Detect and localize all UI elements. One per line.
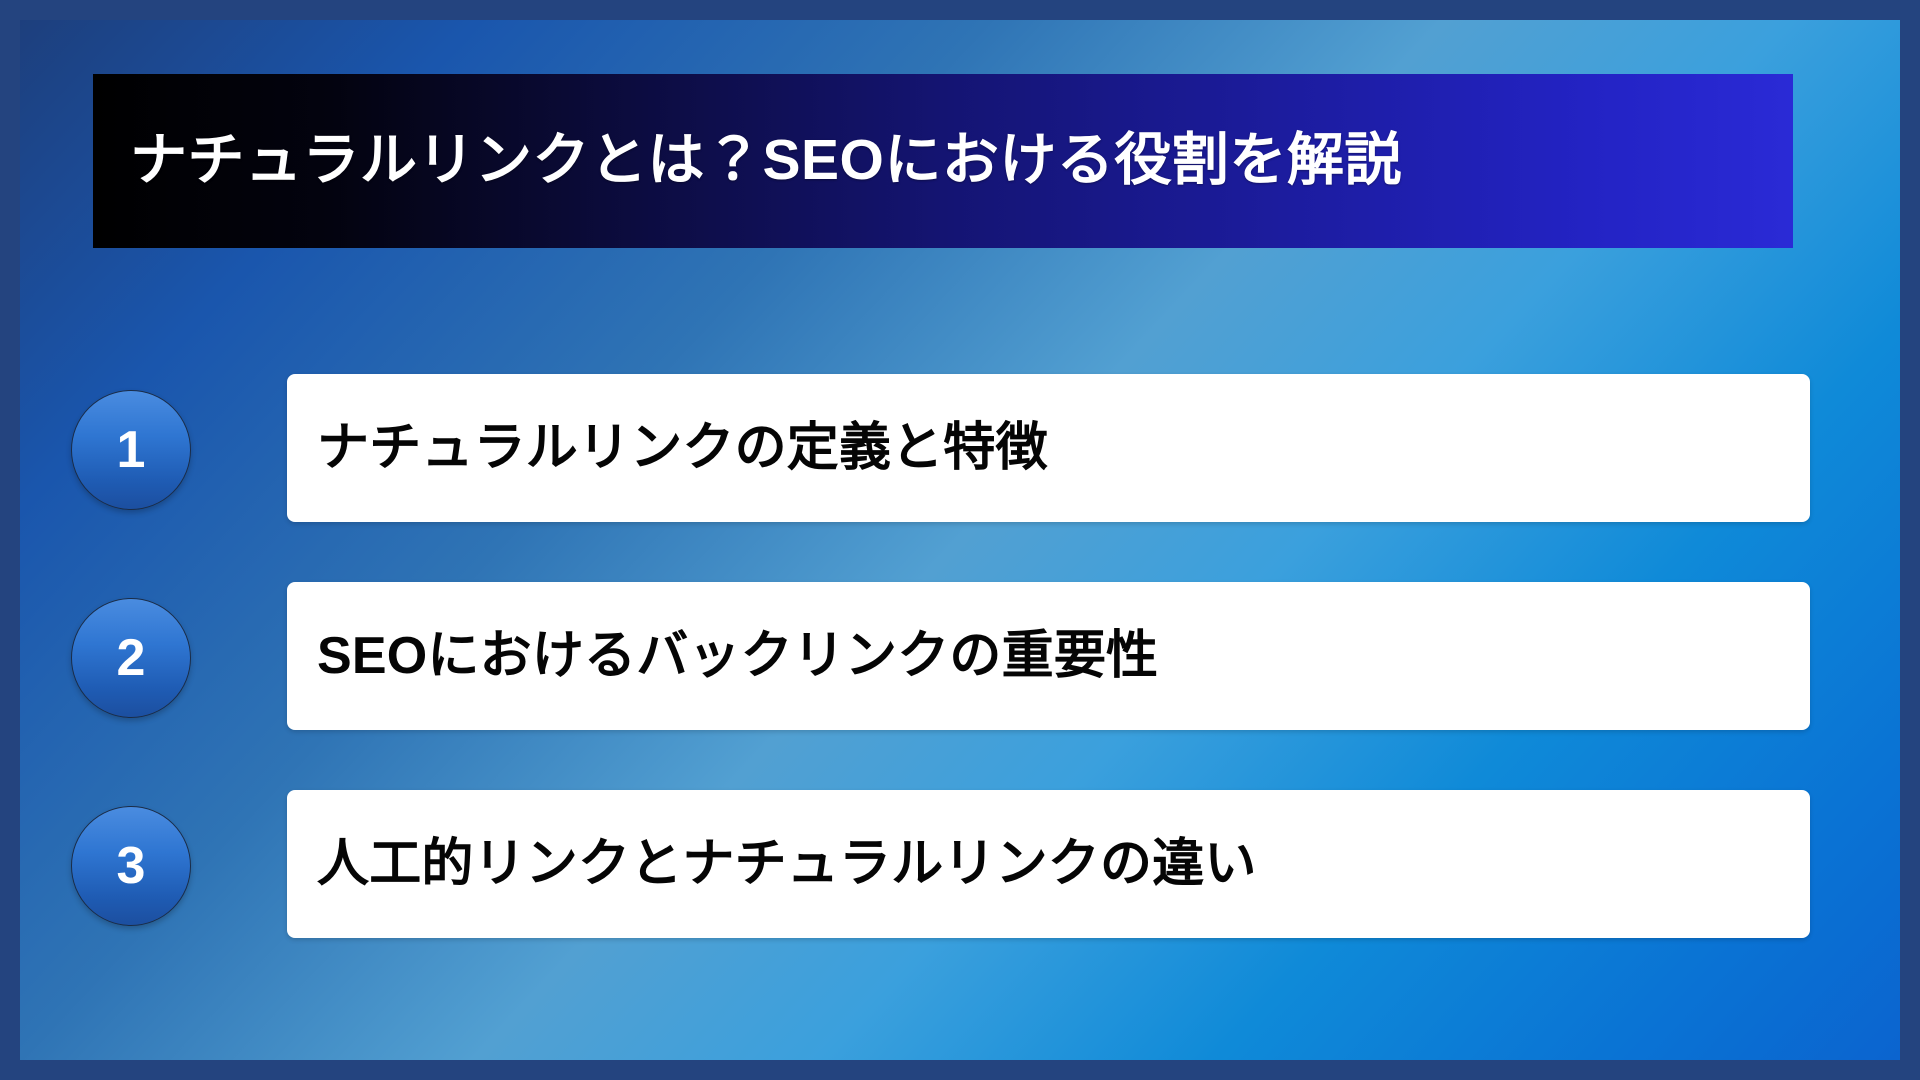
item-number-label: 2 <box>117 632 146 684</box>
item-card-label: ナチュラルリンクの定義と特徴 <box>287 417 1072 479</box>
item-card[interactable]: ナチュラルリンクの定義と特徴 <box>287 374 1810 522</box>
item-card[interactable]: SEOにおけるバックリンクの重要性 <box>287 582 1810 730</box>
list-item[interactable]: 1 ナチュラルリンクの定義と特徴 <box>20 374 1900 522</box>
title-banner: ナチュラルリンクとは？SEOにおける役割を解説 <box>93 74 1793 248</box>
item-card-label: 人工的リンクとナチュラルリンクの違い <box>287 833 1281 895</box>
list-item[interactable]: 2 SEOにおけるバックリンクの重要性 <box>20 582 1900 730</box>
item-number-label: 3 <box>117 840 146 892</box>
item-number-badge: 3 <box>71 806 191 926</box>
slide-background: ナチュラルリンクとは？SEOにおける役割を解説 1 ナチュラルリンクの定義と特徴… <box>20 20 1900 1060</box>
slide-root: ナチュラルリンクとは？SEOにおける役割を解説 1 ナチュラルリンクの定義と特徴… <box>0 0 1920 1080</box>
list-item[interactable]: 3 人工的リンクとナチュラルリンクの違い <box>20 790 1900 938</box>
item-card-label: SEOにおけるバックリンクの重要性 <box>287 625 1182 687</box>
item-number-badge: 1 <box>71 390 191 510</box>
agenda-list: 1 ナチュラルリンクの定義と特徴 2 SEOにおけるバックリンクの重要性 3 <box>20 374 1900 938</box>
page-title: ナチュラルリンクとは？SEOにおける役割を解説 <box>93 128 1426 194</box>
item-number-label: 1 <box>117 424 146 476</box>
item-number-badge: 2 <box>71 598 191 718</box>
item-card[interactable]: 人工的リンクとナチュラルリンクの違い <box>287 790 1810 938</box>
